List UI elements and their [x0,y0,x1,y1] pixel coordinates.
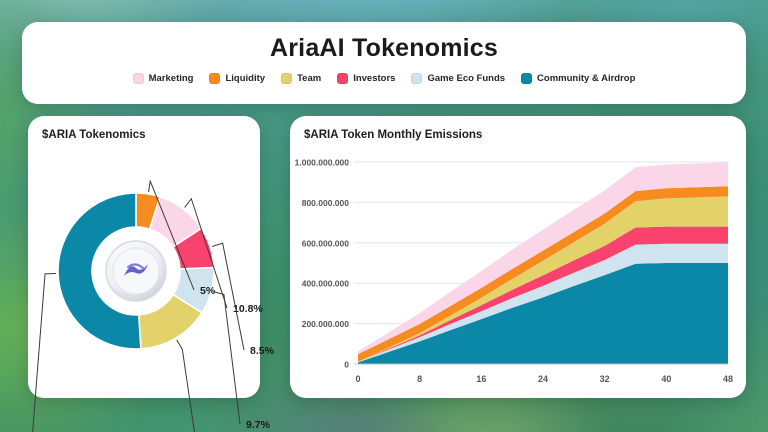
legend-item[interactable]: Liquidity [209,73,265,84]
x-axis-tick-label: 48 [723,374,733,384]
donut-chart: 5%10.8%8.5%9.7%15%51% [28,116,260,398]
legend-item-label: Investors [353,73,395,84]
y-axis-tick-label: 1.000.000.000 [295,158,350,168]
legend-swatch-icon [133,73,144,84]
legend-item[interactable]: Game Eco Funds [411,73,505,84]
emissions-panel-title: $ARIA Token Monthly Emissions [290,116,746,141]
x-axis-tick-label: 40 [661,374,671,384]
legend-item-label: Marketing [149,73,194,84]
donut-leader-line [212,243,244,350]
header-card: AriaAI Tokenomics MarketingLiquidityTeam… [22,22,746,104]
legend-swatch-icon [337,73,348,84]
legend-item-label: Liquidity [225,73,265,84]
y-axis-tick-label: 200.000.000 [302,319,350,329]
y-axis-tick-label: 800.000.000 [302,198,350,208]
legend-swatch-icon [411,73,422,84]
y-axis-tick-label: 0 [344,360,349,370]
legend-item[interactable]: Investors [337,73,395,84]
tokenomics-donut-card: $ARIA Tokenomics 5%10.8%8.5%9.7%15%51% [28,116,260,398]
emissions-area-chart: 0200.000.000400.000.000600.000.000800.00… [290,142,746,398]
x-axis-tick-label: 24 [538,374,548,384]
x-axis-tick-label: 16 [476,374,486,384]
page-title: AriaAI Tokenomics [22,34,746,63]
presentation-slide: AriaAI Tokenomics MarketingLiquidityTeam… [0,0,768,432]
emissions-area-card: $ARIA Token Monthly Emissions 0200.000.0… [290,116,746,398]
y-axis-tick-label: 400.000.000 [302,279,350,289]
legend-item[interactable]: Community & Airdrop [521,73,635,84]
legend-swatch-icon [209,73,220,84]
donut-percentage-label: 10.8% [233,303,263,315]
legend: MarketingLiquidityTeamInvestorsGame Eco … [22,73,746,84]
legend-swatch-icon [281,73,292,84]
aria-coin-logo-icon [106,241,166,301]
legend-item-label: Community & Airdrop [537,73,635,84]
legend-swatch-icon [521,73,532,84]
legend-item[interactable]: Marketing [133,73,194,84]
legend-item[interactable]: Team [281,73,321,84]
donut-percentage-label: 5% [200,285,216,297]
legend-item-label: Game Eco Funds [427,73,505,84]
x-axis-tick-label: 0 [355,374,360,384]
donut-percentage-label: 9.7% [246,419,271,431]
legend-item-label: Team [297,73,321,84]
x-axis-tick-label: 8 [417,374,422,384]
y-axis-tick-label: 600.000.000 [302,238,350,248]
x-axis-tick-label: 32 [600,374,610,384]
donut-percentage-label: 8.5% [250,345,275,357]
